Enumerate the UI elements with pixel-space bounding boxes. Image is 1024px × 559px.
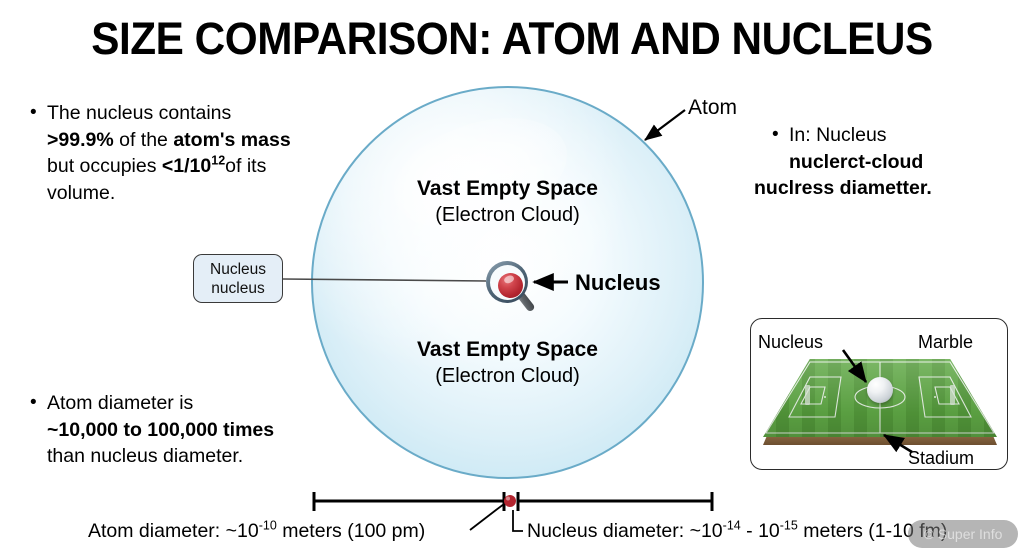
diameter-line-3: than nucleus diameter.: [47, 445, 243, 467]
bullet-dot-icon: •: [772, 122, 779, 149]
mass-text-2: >99.9%: [47, 129, 114, 151]
bullet-dot-icon: •: [30, 390, 37, 417]
mass-exponent: 12: [211, 154, 225, 168]
bullet-nucleus-mass-text: The nucleus contains >99.9% of the atom'…: [47, 100, 295, 206]
mass-text-5: but occupies: [47, 155, 162, 177]
nucleus-caption-exponent-1: -14: [723, 519, 741, 533]
cloud-label-top-sub: (Electron Cloud): [311, 202, 704, 228]
watermark-badge: © Super Info: [908, 520, 1018, 548]
page-title: SIZE COMPARISON: ATOM AND NUCLEUS: [31, 14, 994, 64]
scale-marker-highlight: [506, 497, 510, 501]
nucleus-caption-exponent-2: -15: [780, 519, 798, 533]
nucleus-scale-bar: [518, 492, 712, 511]
stadium-stadium-label: Stadium: [908, 448, 974, 469]
electron-cloud-label-top: Vast Empty Space (Electron Cloud): [311, 176, 704, 228]
cloud-label-bottom-main: Vast Empty Space: [311, 337, 704, 363]
stadium-marble-label: Marble: [918, 332, 973, 353]
cloud-label-top-main: Vast Empty Space: [311, 176, 704, 202]
in-nucleus-line-2: nuclerct-cloud: [789, 151, 923, 173]
electron-cloud-label-bottom: Vast Empty Space (Electron Cloud): [311, 337, 704, 389]
atom-diameter-caption: Atom diameter: ~10-10 meters (100 pm): [88, 519, 425, 543]
bullet-dot-icon: •: [30, 100, 37, 127]
bullet-atom-diameter: • Atom diameter is ~10,000 to 100,000 ti…: [30, 390, 320, 470]
nucleus-callout-box: Nucleus nucleus: [193, 254, 283, 303]
cloud-label-bottom-sub: (Electron Cloud): [311, 363, 704, 389]
bullet-in-nucleus: • In: Nucleus nuclerct-cloud nuclress di…: [772, 122, 1017, 202]
nucleus-diameter-caption: Nucleus diameter: ~10-14 - 10-15 meters …: [527, 519, 947, 543]
atom-caption-exponent: -10: [259, 519, 277, 533]
bullet-nucleus-mass: • The nucleus contains >99.9% of the ato…: [30, 100, 295, 206]
atom-caption-leader: [470, 504, 504, 530]
infographic-canvas: SIZE COMPARISON: ATOM AND NUCLEUS • The …: [0, 0, 1024, 559]
mass-text-3: of the: [114, 129, 174, 151]
bullet-atom-diameter-text: Atom diameter is ~10,000 to 100,000 time…: [47, 390, 320, 470]
mass-text-6: <1/10: [162, 155, 211, 177]
stadium-nucleus-label: Nucleus: [758, 332, 823, 353]
diameter-line-1: Atom diameter is: [47, 392, 193, 414]
scale-nucleus-marker-dot: [504, 495, 516, 507]
nucleus-dot-icon: [498, 273, 523, 298]
in-nucleus-line-1: In: Nucleus: [789, 124, 887, 146]
atom-pointer-arrow: [645, 110, 685, 140]
atom-scale-bar: [314, 492, 504, 511]
in-nucleus-line-3: nuclress diametter.: [754, 177, 932, 199]
magnifier-ring-icon: [486, 261, 528, 303]
atom-caption-pre: Atom diameter: ~10: [88, 520, 259, 542]
magnifier-lens: [490, 265, 525, 300]
bullet-in-nucleus-text: In: Nucleus nuclerct-cloud nuclress diam…: [789, 122, 1017, 202]
nucleus-caption-leader: [513, 510, 523, 531]
marble-sphere-icon: [867, 377, 893, 403]
watermark-text: © Super Info: [924, 526, 1003, 542]
mass-text-1: The nucleus contains: [47, 102, 231, 124]
nucleus-caption-mid: - 10: [741, 520, 780, 542]
nucleus-label: Nucleus: [575, 270, 661, 296]
atom-label: Atom: [688, 96, 737, 120]
nucleus-magnifier: [486, 261, 532, 321]
atom-caption-post: meters (100 pm): [277, 520, 425, 542]
mass-text-4: atom's mass: [173, 129, 290, 151]
nucleus-caption-pre: Nucleus diameter: ~10: [527, 520, 723, 542]
callout-line-1: Nucleus: [210, 260, 266, 279]
callout-line-2: nucleus: [211, 279, 264, 298]
diameter-line-2: ~10,000 to 100,000 times: [47, 419, 274, 441]
soccer-field: [763, 359, 997, 445]
